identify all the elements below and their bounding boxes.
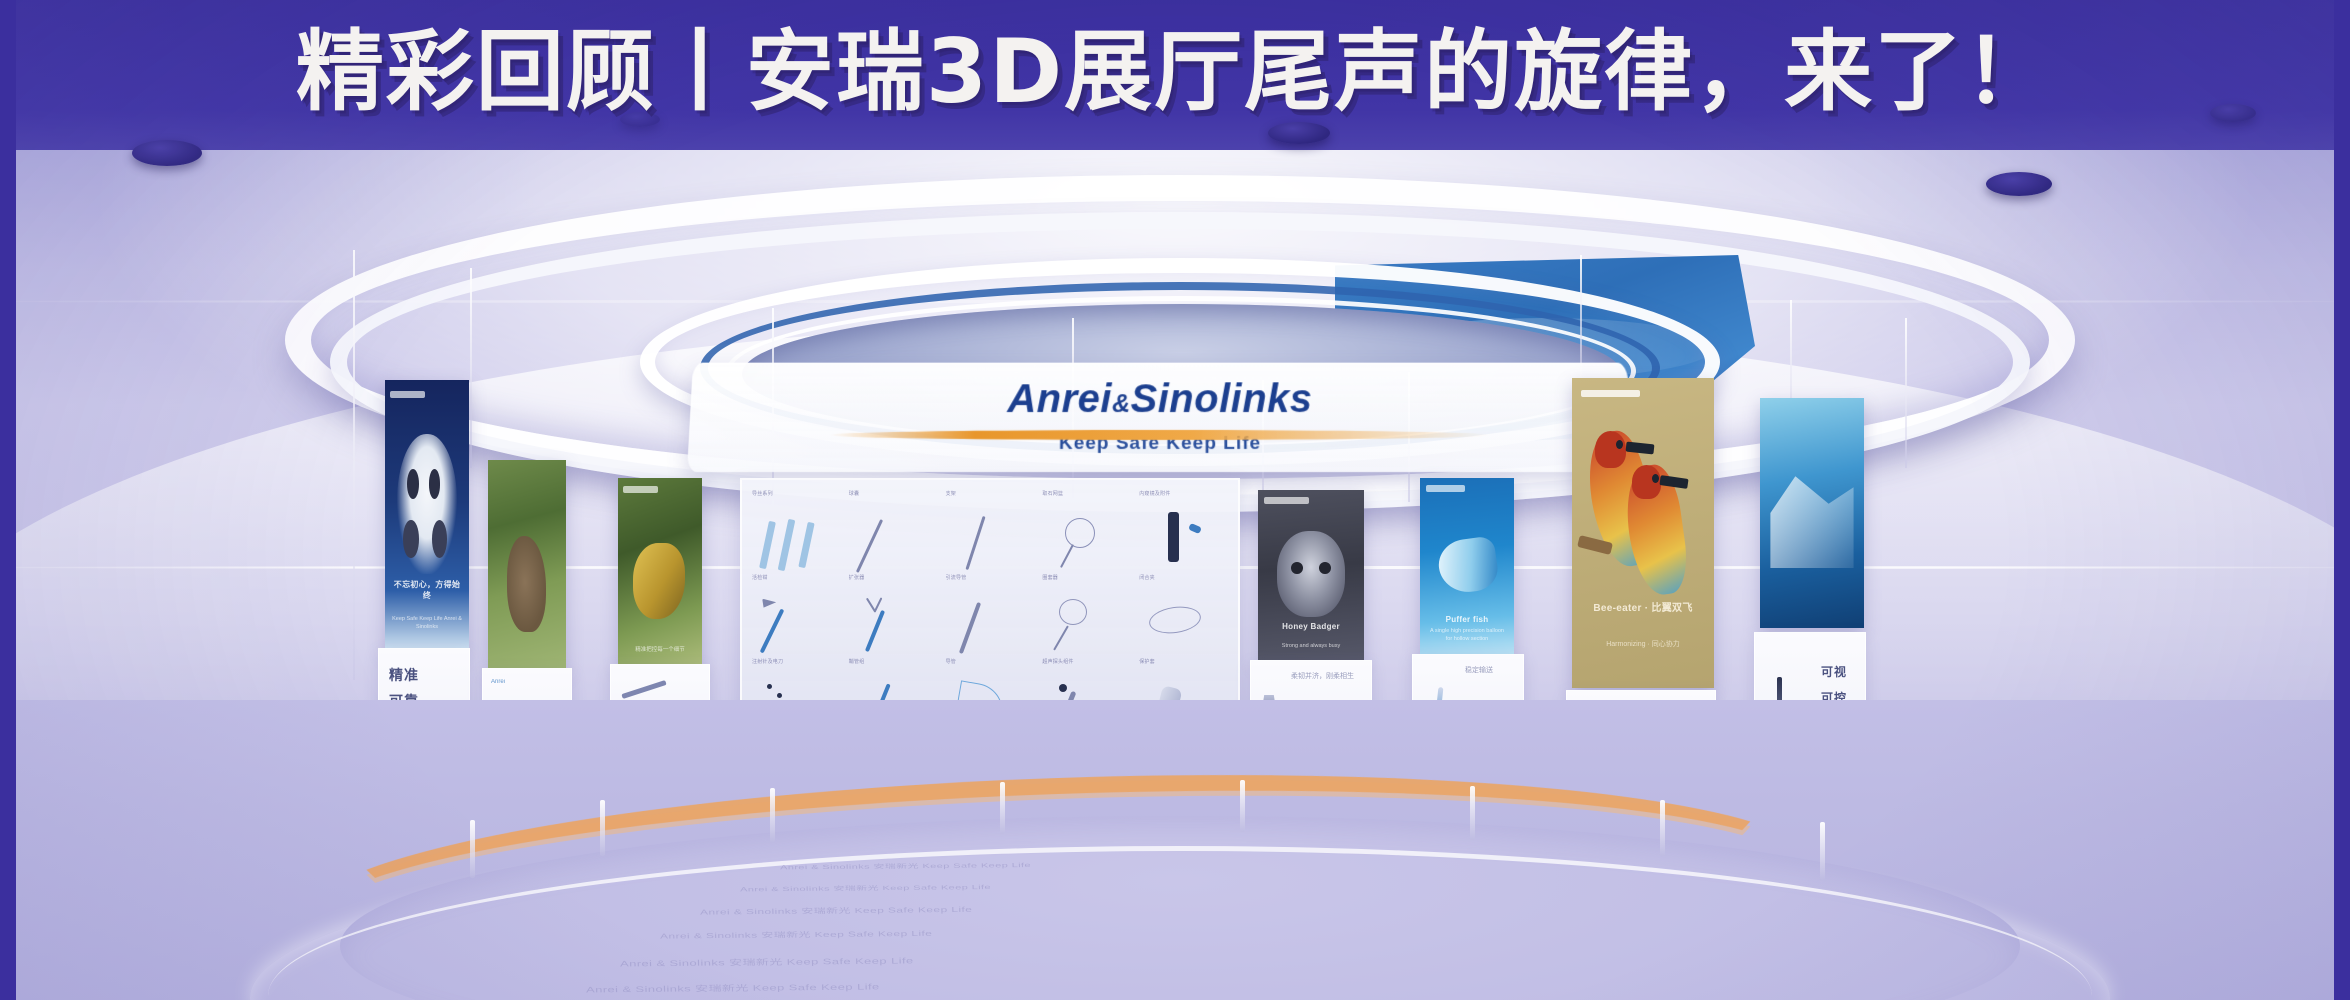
exhibition-banner: Anrei&Sinolinks Keep Safe Keep Life 不忘初心… <box>0 0 2350 1000</box>
poster-title: Bee-eater · 比翼双飞 <box>1581 599 1706 614</box>
product-icon <box>951 512 1027 564</box>
booth-logo-band: Anrei&Sinolinks Keep Safe Keep Life <box>687 363 1633 472</box>
product-label: 鞘管组 <box>849 658 865 665</box>
product-cell[interactable]: 扩张器 <box>845 572 942 656</box>
product-label: 取石网篮 <box>1042 490 1063 497</box>
ceiling-light <box>132 140 202 166</box>
product-label: 圈套器 <box>1042 574 1058 581</box>
product-icon <box>1048 596 1124 648</box>
badger-illustration <box>1277 531 1345 617</box>
product-icon <box>1048 512 1124 564</box>
railing-post <box>1240 780 1245 832</box>
poster-brand-mark <box>1264 497 1309 504</box>
product-cell[interactable]: 内窥镜及附件 <box>1135 488 1232 572</box>
poster-brand-mark <box>1426 485 1465 492</box>
ceiling-light <box>1986 172 2052 196</box>
poster-title: 不忘初心，方得始终 <box>390 579 464 601</box>
frog-illustration <box>633 543 685 619</box>
product-label: 导管 <box>946 658 956 665</box>
product-icon <box>1145 596 1221 648</box>
ceiling-light <box>1268 122 1330 144</box>
product-label: 内窥镜及附件 <box>1139 490 1170 497</box>
banner-title: 精彩回顾丨安瑞3D展厅尾声的旋律，来了！ <box>0 26 2350 118</box>
badger-eye-left <box>1291 562 1303 574</box>
logo-swoosh-icon <box>829 430 1491 440</box>
poster-kangaroo[interactable] <box>488 460 566 670</box>
poster-brand-mark <box>1581 390 1641 397</box>
poster-subtitle: Harmonizing · 同心协力 <box>1583 640 1702 651</box>
product-label: 保护套 <box>1139 658 1155 665</box>
product-label: 引流导管 <box>946 574 967 581</box>
instrument-bar <box>621 680 666 699</box>
right-border-strip <box>2334 0 2350 1000</box>
logo-ampersand: & <box>1112 390 1131 418</box>
product-icon <box>854 512 930 564</box>
hanging-rod <box>1905 318 1907 468</box>
left-border-strip <box>0 0 16 1000</box>
product-cell[interactable]: 导丝系列 <box>748 488 845 572</box>
railing-post <box>1660 800 1665 856</box>
product-icon <box>758 596 834 648</box>
product-label: 注射针及电刀 <box>752 658 783 665</box>
product-icon <box>854 596 930 648</box>
product-label: 闭合夹 <box>1139 574 1155 581</box>
ice-illustration <box>1770 476 1853 568</box>
product-cell[interactable]: 活检钳 <box>748 572 845 656</box>
product-icon <box>951 596 1027 648</box>
poster-dolphin[interactable]: Puffer fish A single high precision ball… <box>1420 478 1514 656</box>
panda-arm-left <box>403 520 418 558</box>
hanging-rod <box>353 250 355 680</box>
product-icon <box>1145 512 1221 564</box>
board-line-1: 精准 <box>389 665 419 685</box>
bird-eye-2 <box>1652 474 1659 483</box>
poster-subtitle: 精准把控每一个细节 <box>625 646 696 654</box>
hanging-rod <box>470 268 472 468</box>
product-cell[interactable]: 引流导管 <box>942 572 1039 656</box>
product-label: 活检钳 <box>752 574 768 581</box>
dolphin-illustration <box>1435 535 1500 596</box>
product-label: 导丝系列 <box>752 490 773 497</box>
product-icon <box>758 512 834 564</box>
product-cell[interactable]: 闭合夹 <box>1135 572 1232 656</box>
product-label: 支架 <box>946 490 956 497</box>
product-cell[interactable]: 圈套器 <box>1038 572 1135 656</box>
product-label: 扩张器 <box>849 574 865 581</box>
bird-head-1 <box>1595 431 1626 468</box>
poster-subtitle: Strong and always busy <box>1266 642 1355 650</box>
poster-ice-blue[interactable] <box>1760 398 1864 628</box>
poster-panda[interactable]: 不忘初心，方得始终 Keep Safe Keep Life Anrei & Si… <box>385 380 469 650</box>
railing-post <box>1000 782 1005 834</box>
poster-brand-mark <box>390 391 425 398</box>
poster-honey-badger[interactable]: Honey Badger Strong and always busy <box>1258 490 1364 662</box>
kangaroo-illustration <box>507 536 546 633</box>
board-caption: Anrei <box>491 679 505 685</box>
railing-post <box>1820 822 1825 880</box>
railing-post <box>770 788 775 842</box>
poster-subtitle: A single high precision balloon for holl… <box>1428 627 1507 644</box>
poster-bee-eater[interactable]: Bee-eater · 比翼双飞 Harmonizing · 同心协力 <box>1572 378 1714 688</box>
poster-brand-mark <box>623 486 658 493</box>
product-label: 球囊 <box>849 490 859 497</box>
poster-subtitle: Keep Safe Keep Life Anrei & Sinolinks <box>392 615 463 632</box>
panda-eye-left <box>407 469 419 499</box>
board-caption: 稳定输送 <box>1465 665 1493 675</box>
board-line-1: 可视 <box>1821 663 1847 680</box>
poster-title: Puffer fish <box>1426 615 1509 624</box>
railing-post <box>470 820 475 878</box>
railing-post <box>600 800 605 856</box>
board-caption: 柔韧并济，刚柔相生 <box>1291 671 1354 681</box>
railing-post <box>1470 786 1475 840</box>
product-label: 超声探头组件 <box>1042 658 1073 665</box>
product-cell[interactable]: 球囊 <box>845 488 942 572</box>
booth-logo-text: Anrei&Sinolinks <box>1007 379 1313 419</box>
poster-title: Honey Badger <box>1264 622 1357 631</box>
product-cell[interactable]: 取石网篮 <box>1038 488 1135 572</box>
logo-name-second: Sinolinks <box>1130 377 1312 421</box>
logo-name-main: Anrei <box>1007 377 1112 421</box>
product-cell[interactable]: 支架 <box>942 488 1039 572</box>
poster-frog[interactable]: 精准把控每一个细节 <box>618 478 702 668</box>
